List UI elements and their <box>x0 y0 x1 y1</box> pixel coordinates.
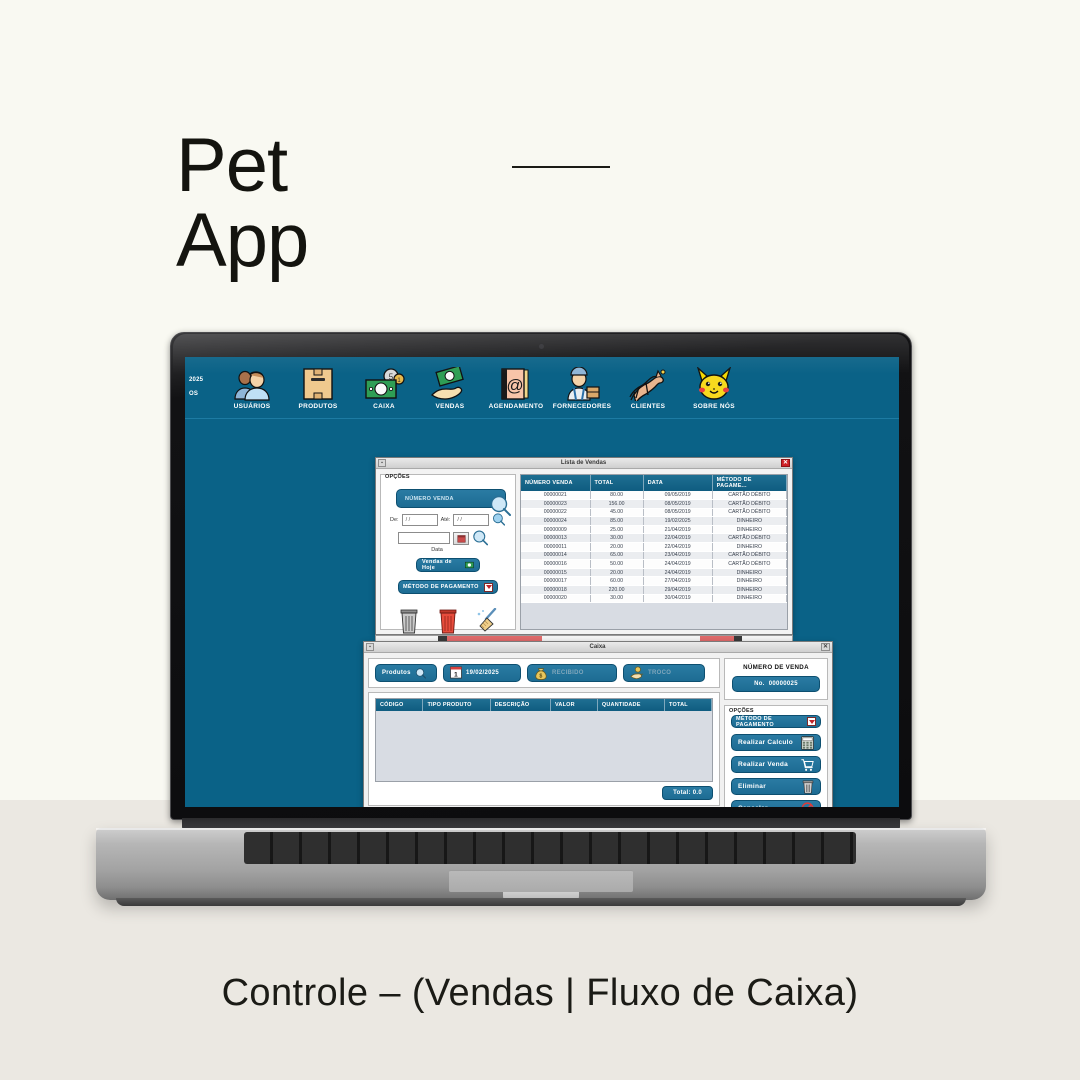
table-row[interactable]: 0000001120.0022/04/2019DINHEIRO <box>521 543 787 552</box>
magnifier-icon[interactable] <box>472 530 488 546</box>
money-bag-icon: $ <box>534 666 548 680</box>
table-cell: 60.00 <box>590 577 643 586</box>
laptop-screen: 2025 OS <box>185 357 899 807</box>
table-cell: DINHEIRO <box>712 586 786 595</box>
table-cell: 21/04/2019 <box>643 525 712 534</box>
column-header[interactable]: TOTAL <box>590 475 643 491</box>
toolbar-label: USUÁRIOS <box>219 403 285 410</box>
table-cell: CARTÃO DÉBITO <box>712 500 786 509</box>
table-row-empty <box>376 711 712 720</box>
table-cell-empty <box>376 737 423 746</box>
calendar-icon[interactable] <box>453 532 469 545</box>
table-cell-empty <box>550 728 597 737</box>
caixa-total-row: Total: 0.0 <box>375 782 713 800</box>
table-cell: 00000009 <box>521 525 590 534</box>
troco-label: TROCO <box>648 670 671 676</box>
coin-hand-icon <box>630 666 644 680</box>
table-header-row: CÓDIGOTIPO PRODUTODESCRIÇÃOVALORQUANTIDA… <box>376 699 712 711</box>
box-icon <box>285 365 351 401</box>
laptop-base <box>96 828 986 900</box>
data-field[interactable]: 1 19/02/2025 <box>443 664 521 682</box>
main-toolbar: 2025 OS <box>185 365 899 419</box>
toolbar-label: SOBRE NÓS <box>681 403 747 410</box>
realizar-calculo-label: Realizar Calculo <box>738 739 793 746</box>
table-cell-empty <box>665 728 712 737</box>
table-cell-empty <box>665 720 712 729</box>
metodo-pagamento-select-caixa[interactable]: MÉTODO DE PAGAMENTO <box>731 715 821 728</box>
eliminar-button[interactable]: Eliminar <box>731 778 821 795</box>
calendar-icon: 1 <box>450 666 462 681</box>
table-cell: 25.00 <box>590 525 643 534</box>
table-cell: 29/04/2019 <box>643 586 712 595</box>
laptop-lid: 2025 OS <box>170 332 912 820</box>
table-row[interactable]: 0000001465.0023/04/2019CARTÃO DÉBITO <box>521 551 787 560</box>
lista-de-vendas-window: ▪ Lista de Vendas ✕ OPÇÕES NÚMERO VENDA <box>375 457 793 635</box>
page-title: Pet App <box>176 128 596 278</box>
table-cell: 08/05/2019 <box>643 508 712 517</box>
table-cell: DINHEIRO <box>712 568 786 577</box>
caixa-action-bar: Produtos <box>368 658 720 688</box>
date-input[interactable] <box>398 532 450 544</box>
table-cell-empty <box>550 754 597 763</box>
column-header[interactable]: MÉTODO DE PAGAME... <box>712 475 786 491</box>
table-cell: CARTÃO DÉBITO <box>712 508 786 517</box>
table-cell: 00000018 <box>521 586 590 595</box>
numero-de-venda-title: NÚMERO DE VENDA <box>725 664 827 671</box>
table-cell-empty <box>423 737 490 746</box>
table-cell: 00000015 <box>521 568 590 577</box>
numero-venda-placeholder: NÚMERO VENDA <box>405 496 454 502</box>
toolbar-label: CAIXA <box>351 403 417 410</box>
table-cell-empty <box>376 754 423 763</box>
caixa-window-body: Produtos <box>364 654 832 807</box>
delivery-person-icon <box>549 365 615 401</box>
caixa-products-table-container[interactable]: CÓDIGOTIPO PRODUTODESCRIÇÃOVALORQUANTIDA… <box>375 698 713 782</box>
caixa-window: ▪ Caixa ✕ Produtos <box>363 641 833 807</box>
table-cell-empty <box>665 711 712 720</box>
table-row[interactable]: 0000001650.0024/04/2019CARTÃO DÉBITO <box>521 560 787 569</box>
at-book-icon: @ <box>483 365 549 401</box>
realizar-venda-button[interactable]: Realizar Venda <box>731 756 821 773</box>
table-cell: 65.00 <box>590 551 643 560</box>
toolbar-label: CLIENTES <box>615 403 681 410</box>
table-row[interactable]: 0000002485.0019/02/2025DINHEIRO <box>521 517 787 526</box>
table-cell: CARTÃO DÉBITO <box>712 560 786 569</box>
cancelar-label: Cancelar <box>738 805 768 807</box>
table-cell-empty <box>597 720 664 729</box>
lista-window-titlebar[interactable]: ▪ Lista de Vendas ✕ <box>376 458 792 469</box>
lista-vendas-table-container[interactable]: NÚMERO VENDATOTALDATAMÉTODO DE PAGAME...… <box>520 474 788 630</box>
chevron-down-icon[interactable] <box>807 717 816 726</box>
produtos-button[interactable]: Produtos <box>375 664 437 682</box>
table-cell-empty <box>490 737 550 746</box>
table-cell-empty <box>665 737 712 746</box>
date-caption: Data <box>398 547 476 553</box>
table-cell-empty <box>550 745 597 754</box>
table-cell: 19/02/2025 <box>643 517 712 526</box>
webcam-icon <box>539 344 544 349</box>
magnifier-icon <box>415 668 426 679</box>
close-icon[interactable]: ✕ <box>781 459 790 467</box>
produtos-label: Produtos <box>382 670 411 676</box>
table-row[interactable]: 0000002245.0008/05/2019CARTÃO DÉBITO <box>521 508 787 517</box>
date-row <box>386 530 510 546</box>
toolbar-item-fornecedores[interactable]: FORNECEDORES <box>549 365 615 410</box>
table-cell-empty <box>423 745 490 754</box>
column-header[interactable]: QUANTIDADE <box>597 699 664 711</box>
page-caption: Controle – (Vendas | Fluxo de Caixa) <box>0 972 1080 1015</box>
table-cell-empty <box>597 745 664 754</box>
caixa-products-table: CÓDIGOTIPO PRODUTODESCRIÇÃOVALORQUANTIDA… <box>376 699 712 763</box>
range-to-input[interactable]: / / <box>453 514 489 526</box>
table-cell-empty <box>423 728 490 737</box>
table-cell-empty <box>490 745 550 754</box>
metodo-pagamento-select-lista[interactable]: MÉTODO DE PAGAMENTO <box>398 580 498 594</box>
table-cell-empty <box>665 754 712 763</box>
trash-gray-icon <box>802 780 814 794</box>
recibido-label: RECIBIDO <box>552 670 584 676</box>
table-cell: 00000016 <box>521 560 590 569</box>
svg-text:@: @ <box>506 376 523 395</box>
table-cell: 50.00 <box>590 560 643 569</box>
application-window: 2025 OS <box>185 357 899 807</box>
table-cell-empty <box>550 711 597 720</box>
caixa-main-column: Produtos <box>368 658 720 806</box>
toolbar-corner-text: 2025 OS <box>189 373 217 401</box>
table-cell: 24/04/2019 <box>643 560 712 569</box>
table-row-empty <box>376 737 712 746</box>
column-header[interactable]: TOTAL <box>665 699 712 711</box>
table-cell: 00000024 <box>521 517 590 526</box>
laptop-trackpad <box>449 870 633 892</box>
forbidden-icon <box>801 802 814 807</box>
trash-gray-icon <box>399 608 419 634</box>
table-cell-empty <box>550 737 597 746</box>
table-cell: 00000014 <box>521 551 590 560</box>
table-cell-empty <box>376 745 423 754</box>
table-cell-empty <box>597 728 664 737</box>
table-cell: 20.00 <box>590 543 643 552</box>
table-row[interactable]: 0000002030.0030/04/2019DINHEIRO <box>521 594 787 603</box>
headline-rule <box>512 166 610 168</box>
table-cell: 85.00 <box>590 517 643 526</box>
realizar-calculo-button[interactable]: Realizar Calculo <box>731 734 821 751</box>
toolbar-label: AGENDAMENTO <box>483 403 549 410</box>
table-cell: 30.00 <box>590 534 643 543</box>
table-cell-empty <box>550 720 597 729</box>
toolbar-item-agendamento[interactable]: @ AGENDAMENTO <box>483 365 549 410</box>
corner-text-line-2: OS <box>189 387 217 401</box>
table-cell: 22/04/2019 <box>643 534 712 543</box>
table-cell: 80.00 <box>590 491 643 500</box>
table-row-empty <box>376 720 712 729</box>
table-cell: 30.00 <box>590 594 643 603</box>
realizar-venda-label: Realizar Venda <box>738 761 788 768</box>
close-icon[interactable]: ✕ <box>821 643 830 651</box>
eliminar-label: Eliminar <box>738 783 766 790</box>
table-cell: 09/05/2019 <box>643 491 712 500</box>
table-cell-empty <box>665 745 712 754</box>
numero-de-venda-card: NÚMERO DE VENDA No. 00000025 <box>724 658 828 700</box>
chevron-down-icon[interactable] <box>484 583 493 592</box>
table-cell-empty <box>490 711 550 720</box>
options-content: NÚMERO VENDA De: / / Até: <box>381 484 515 649</box>
metodo-pagamento-label: MÉTODO DE PAGAMENTO <box>736 716 807 728</box>
column-header[interactable]: CÓDIGO <box>376 699 423 711</box>
table-cell-empty <box>490 754 550 763</box>
numero-de-venda-value-field: No. 00000025 <box>732 676 820 692</box>
money-hand-icon <box>417 365 483 401</box>
table-cell: 00000021 <box>521 491 590 500</box>
table-cell-empty <box>597 754 664 763</box>
table-cell-empty <box>376 711 423 720</box>
table-cell: 00000022 <box>521 508 590 517</box>
caixa-window-title: Caixa <box>374 644 821 650</box>
toolbar-item-vendas[interactable]: VENDAS <box>417 365 483 410</box>
table-cell: DINHEIRO <box>712 525 786 534</box>
range-to-label: Até: <box>441 517 451 523</box>
table-cell: DINHEIRO <box>712 577 786 586</box>
options-legend: OPÇÕES <box>385 474 410 480</box>
table-cell-empty <box>376 728 423 737</box>
column-header[interactable]: TIPO PRODUTO <box>423 699 490 711</box>
table-cell: 23/04/2019 <box>643 551 712 560</box>
broom-icon <box>475 608 499 634</box>
caixa-side-column: NÚMERO DE VENDA No. 00000025 OPÇÕES MÉTO… <box>724 658 828 806</box>
table-row-empty <box>376 745 712 754</box>
toolbar-label: PRODUTOS <box>285 403 351 410</box>
cash-coins-icon: 5 1 <box>351 365 417 401</box>
cart-icon <box>800 758 814 772</box>
table-cell: 27/04/2019 <box>643 577 712 586</box>
pikachu-icon <box>681 365 747 401</box>
total-display: Total: 0.0 <box>662 786 713 800</box>
table-row[interactable]: 0000001520.0024/04/2019DINHEIRO <box>521 568 787 577</box>
column-header[interactable]: VALOR <box>550 699 597 711</box>
lista-window-body: OPÇÕES NÚMERO VENDA De: <box>376 470 792 634</box>
toolbar-item-usuarios[interactable]: USUÁRIOS <box>219 365 285 410</box>
money-icon <box>465 561 474 569</box>
table-cell: 220.00 <box>590 586 643 595</box>
table-row-empty <box>376 728 712 737</box>
table-header-row: NÚMERO VENDATOTALDATAMÉTODO DE PAGAME... <box>521 475 787 491</box>
table-cell: 00000011 <box>521 543 590 552</box>
vendas-de-hoje-label: Vendas de Hoje <box>422 559 461 571</box>
headline-line-2: App <box>176 203 596 278</box>
table-cell: 156.00 <box>590 500 643 509</box>
table-cell-empty <box>597 737 664 746</box>
table-cell: DINHEIRO <box>712 594 786 603</box>
table-cell: DINHEIRO <box>712 543 786 552</box>
table-row-empty <box>376 754 712 763</box>
table-cell: 22/04/2019 <box>643 543 712 552</box>
table-cell-empty <box>376 720 423 729</box>
caixa-grid-card: CÓDIGOTIPO PRODUTODESCRIÇÃOVALORQUANTIDA… <box>368 692 720 806</box>
lista-window-title: Lista de Vendas <box>386 460 781 466</box>
column-header[interactable]: NÚMERO VENDA <box>521 475 590 491</box>
users-icon <box>219 365 285 401</box>
troco-button[interactable]: TROCO <box>623 664 705 682</box>
toolbar-item-sobre-nos[interactable]: SOBRE NÓS <box>681 365 747 410</box>
numero-value: 00000025 <box>769 681 798 687</box>
table-cell: 20.00 <box>590 568 643 577</box>
column-header[interactable]: DATA <box>643 475 712 491</box>
table-cell-empty <box>490 728 550 737</box>
column-header[interactable]: DESCRIÇÃO <box>490 699 550 711</box>
options-legend: OPÇÕES <box>729 708 754 714</box>
window-menu-icon[interactable]: ▪ <box>378 459 386 467</box>
cancelar-button[interactable]: Cancelar <box>731 800 821 807</box>
laptop-mockup: 2025 OS <box>86 332 996 924</box>
caixa-options-panel: OPÇÕES MÉTODO DE PAGAMENTO Realizar Calc… <box>724 705 828 807</box>
table-cell-empty <box>423 720 490 729</box>
table-cell: 00000020 <box>521 594 590 603</box>
svg-text:$: $ <box>539 673 542 679</box>
table-cell: CARTÃO DÉBITO <box>712 534 786 543</box>
table-cell: 08/05/2019 <box>643 500 712 509</box>
table-cell: 00000013 <box>521 534 590 543</box>
toolbar-label: VENDAS <box>417 403 483 410</box>
toolbar-items: USUÁRIOS <box>219 365 747 410</box>
toolbar-label: FORNECEDORES <box>549 403 615 410</box>
table-cell: 45.00 <box>590 508 643 517</box>
table-row[interactable]: 0000000925.0021/04/2019DINHEIRO <box>521 525 787 534</box>
table-cell: 00000023 <box>521 500 590 509</box>
table-cell-empty <box>597 711 664 720</box>
table-cell: 30/04/2019 <box>643 594 712 603</box>
metodo-pagamento-label: MÉTODO DE PAGAMENTO <box>403 584 479 590</box>
toolbar-item-caixa[interactable]: 5 1 CAIXA <box>351 365 417 410</box>
table-row[interactable]: 00000018220.0029/04/2019DINHEIRO <box>521 586 787 595</box>
toolbar-item-produtos[interactable]: PRODUTOS <box>285 365 351 410</box>
lista-vendas-table: NÚMERO VENDATOTALDATAMÉTODO DE PAGAME...… <box>521 475 787 603</box>
table-row[interactable]: 00000023156.0008/05/2019CARTÃO DÉBITO <box>521 500 787 509</box>
vendas-de-hoje-button[interactable]: Vendas de Hoje <box>416 558 480 572</box>
corner-text-line-1: 2025 <box>189 373 217 387</box>
laptop-keyboard <box>244 832 856 864</box>
window-menu-icon[interactable]: ▪ <box>366 643 374 651</box>
table-cell: DINHEIRO <box>712 517 786 526</box>
trash-red-icon <box>438 608 458 634</box>
table-cell: 24/04/2019 <box>643 568 712 577</box>
range-from-input[interactable]: / / <box>402 514 438 526</box>
table-cell-empty <box>490 720 550 729</box>
table-cell-empty <box>423 754 490 763</box>
table-row[interactable]: 0000002180.0009/05/2019CARTÃO DÉBITO <box>521 491 787 500</box>
caixa-window-titlebar[interactable]: ▪ Caixa ✕ <box>364 642 832 653</box>
table-cell: CARTÃO DÉBITO <box>712 551 786 560</box>
numero-prefix: No. <box>754 681 765 687</box>
table-cell: CARTÃO DÉBITO <box>712 491 786 500</box>
calculator-icon <box>801 736 814 750</box>
table-row[interactable]: 0000001330.0022/04/2019CARTÃO DÉBITO <box>521 534 787 543</box>
magnifier-icon[interactable] <box>489 495 511 517</box>
range-from-label: De: <box>390 517 399 523</box>
table-cell-empty <box>423 711 490 720</box>
table-cell: 00000017 <box>521 577 590 586</box>
table-row[interactable]: 0000001760.0027/04/2019DINHEIRO <box>521 577 787 586</box>
lista-options-panel: OPÇÕES NÚMERO VENDA De: <box>380 474 516 630</box>
toolbar-item-clientes[interactable]: CLIENTES <box>615 365 681 410</box>
laptop-foot <box>116 898 966 906</box>
recibido-button[interactable]: $ RECIBIDO <box>527 664 617 682</box>
dog-icon <box>615 365 681 401</box>
day-number: 1 <box>454 671 458 678</box>
data-value: 19/02/2025 <box>466 670 499 676</box>
